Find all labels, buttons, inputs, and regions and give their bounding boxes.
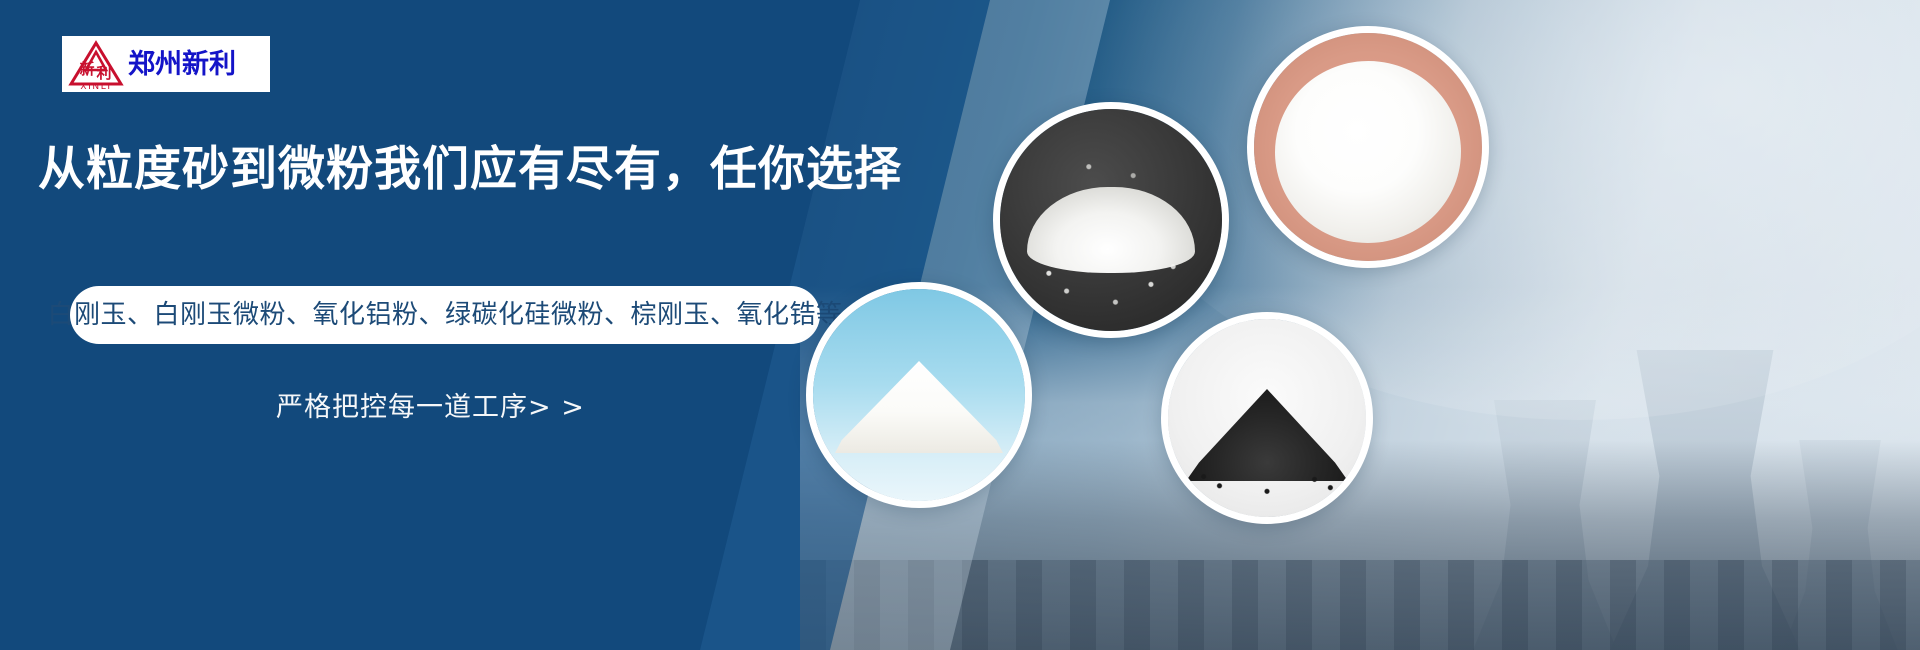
page-title: 从粒度砂到微粉我们应有尽有，任你选择	[38, 143, 902, 197]
product-photo-circle-white-powder-pink-dish	[1247, 26, 1489, 268]
product-list-pill-label: 白刚玉、白刚玉微粉、氧化铝粉、绿碳化硅微粉、棕刚玉、氧化锆等	[48, 302, 843, 328]
company-logo[interactable]: 新 利 XINLI 郑州新利	[62, 36, 270, 92]
product-photo-circle-white-powder-cone-blue	[806, 282, 1032, 508]
tagline-link[interactable]: 严格把控每一道工序> >	[276, 392, 585, 424]
product-list-pill: 白刚玉、白刚玉微粉、氧化铝粉、绿碳化硅微粉、棕刚玉、氧化锆等	[70, 286, 820, 344]
product-photo-circle-black-grains-white	[1161, 312, 1373, 524]
logo-wordmark: 郑州新利	[128, 51, 236, 78]
svg-text:XINLI: XINLI	[80, 82, 111, 90]
svg-text:利: 利	[96, 64, 111, 82]
product-photo-circle-white-grains-dark-tray	[993, 102, 1229, 338]
svg-text:新: 新	[79, 60, 94, 78]
triangle-mountain-logo-icon: 新 利 XINLI	[68, 38, 124, 90]
promo-banner: 新 利 XINLI 郑州新利 从粒度砂到微粉我们应有尽有，任你选择 白刚玉、白刚…	[0, 0, 1920, 650]
